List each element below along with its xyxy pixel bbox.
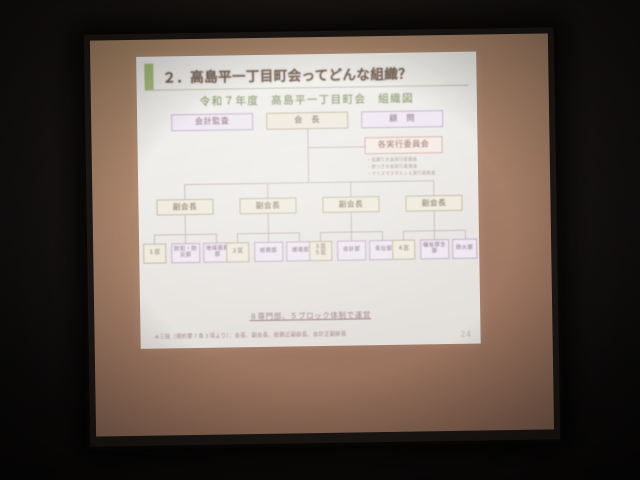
connector-chair-stem [307,129,309,182]
connector-block3-drop-1 [320,232,321,241]
connector-block3-drop-3 [382,231,383,240]
presentation-slide: ２．高島平一丁目町会ってどんな組織？ 令和７年度 高島平一丁目町会 組織図 会計… [136,52,481,349]
connector-chair-to-committee [308,146,365,148]
connector-vicechair-drop-4 [433,180,434,195]
connector-block3-stem [351,213,352,232]
org-box-vice-chair-4: 副会長 [405,195,462,212]
org-box-block3-child-1: ３区 ５区 [309,241,332,261]
slide-title-bar: ２．高島平一丁目町会ってどんな組織？ [144,59,468,91]
connector-block2-drop-2 [268,233,269,242]
org-box-block1-child-1: １区 [143,243,166,263]
org-box-block4-child-3: 防火部 [452,239,477,259]
projector-screen-frame: ２．高島平一丁目町会ってどんな組織？ 令和７年度 高島平一丁目町会 組織図 会計… [81,24,564,449]
connector-block4-drop-1 [403,231,404,240]
title-accent-bar [144,64,153,90]
org-box-block3-child-2: 会計部 [337,240,366,260]
connector-block4-stem [434,211,435,230]
footnote-text: ※三役（規約第７条３項より）：会長、副会長、総務正副部長、会計正副部長 [154,328,466,341]
projection-room: ２．高島平一丁目町会ってどんな組織？ 令和７年度 高島平一丁目町会 組織図 会計… [0,0,640,480]
connector-block1-drop-1 [154,235,155,244]
connector-block1-stem [185,215,186,234]
org-box-vice-chair-2: 副会長 [239,197,296,214]
projector-screen-surround: ２．高島平一丁目町会ってどんな組織？ 令和７年度 高島平一丁目町会 組織図 会計… [90,33,554,436]
connector-block4-drop-3 [465,230,466,239]
connector-block4-drop-2 [434,230,435,239]
connector-block2-stem [268,214,269,233]
org-box-vice-chair-1: 副会長 [156,199,213,216]
slide-subtitle: 令和７年度 高島平一丁目町会 組織図 [137,90,477,110]
org-box-block4-child-1: ４区 [392,240,415,260]
org-box-committees: 各実行委員会 [364,136,442,154]
org-box-block4-child-2: 福祉厚生部 [420,239,449,259]
connector-block2-drop-3 [299,232,300,241]
org-box-block2-child-2: 総務部 [254,242,283,262]
connector-block3-drop-2 [351,232,352,241]
org-box-vice-chair-3: 副会長 [322,196,379,213]
connector-vicechair-drop-1 [184,184,185,199]
page-number: 24 [460,330,471,339]
connector-block1-drop-3 [216,234,217,243]
operation-note: ８専門部、５ブロック体制で運営 [140,308,480,324]
connector-block1-drop-2 [185,234,186,243]
page-title: ２．高島平一丁目町会ってどんな組織？ [153,62,468,87]
committee-item-3: ・クリスマスマルシェ実行委員会 [367,171,436,179]
connector-vicechair-drop-3 [350,182,351,197]
org-box-advisor: 顧 問 [361,110,443,128]
org-box-auditor: 会計監査 [171,113,253,131]
connector-vicechair-drop-2 [267,183,268,198]
connector-block2-drop-1 [237,233,238,242]
org-box-block1-child-2: 防犯・防災部 [171,243,200,263]
org-box-chairperson: 会 長 [266,112,348,130]
org-box-block2-child-1: ２区 [226,242,249,262]
